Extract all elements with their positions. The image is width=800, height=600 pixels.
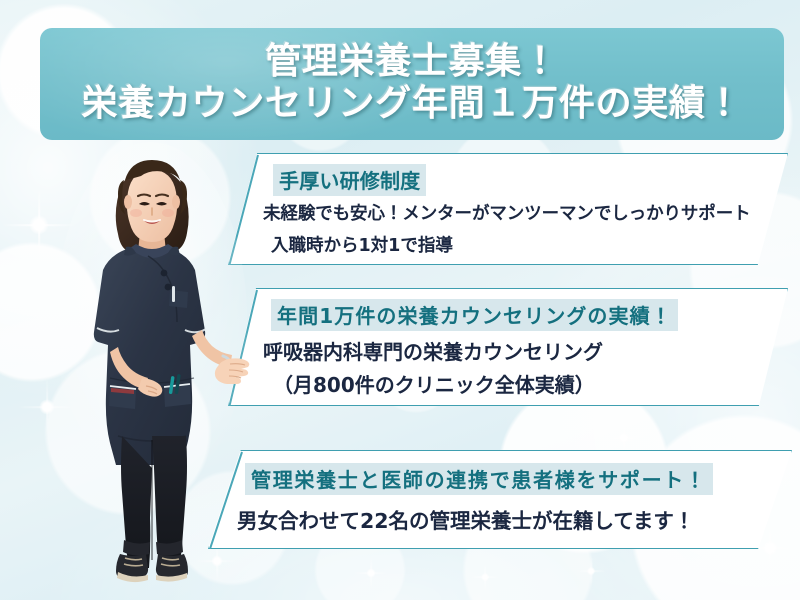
panel-line-training-1: 未経験でも安心！メンターがマンツーマンでしっかりサポート: [263, 200, 787, 225]
panel-line-counseling-2: （月800件のクリニック全体実績）: [273, 369, 787, 398]
panel-heading-doctor-collaboration: 管理栄養士と医師の連携で患者様をサポート！: [245, 463, 713, 495]
panel-line-counseling-1: 呼吸器内科専門の栄養カウンセリング: [263, 336, 787, 365]
panel-line-collaboration-1: 男女合わせて22名の管理栄養士が在籍してます！: [237, 504, 791, 534]
title-banner: 管理栄養士募集！ 栄養カウンセリング年間１万件の実績！: [40, 28, 784, 140]
title-line-1: 管理栄養士募集！: [265, 42, 559, 82]
info-panel-training: 手厚い研修制度 未経験でも安心！メンターがマンツーマンでしっかりサポート 入職時…: [228, 153, 788, 265]
person-photo: [52, 140, 250, 590]
poster-canvas: 管理栄養士募集！ 栄養カウンセリング年間１万件の実績！ 手厚い研修制度 未経験で…: [0, 0, 800, 600]
panel-heading-training: 手厚い研修制度: [273, 164, 426, 196]
info-panel-counseling-results: 年間1万件の栄養カウンセリングの実績！ 呼吸器内科専門の栄養カウンセリング （月…: [228, 288, 788, 406]
panel-heading-counseling-results: 年間1万件の栄養カウンセリングの実績！: [271, 299, 678, 331]
info-panel-doctor-collaboration: 管理栄養士と医師の連携で患者様をサポート！ 男女合わせて22名の管理栄養士が在籍…: [208, 450, 792, 549]
panel-line-training-2: 入職時から1対1で指導: [271, 232, 787, 257]
title-line-2: 栄養カウンセリング年間１万件の実績！: [82, 82, 743, 126]
